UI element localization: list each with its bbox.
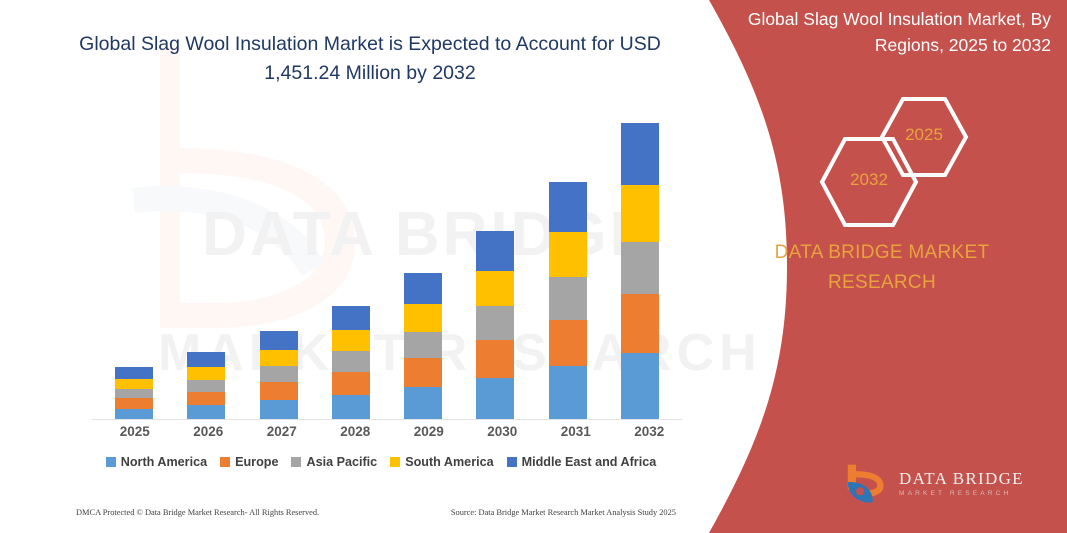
bar-segment bbox=[260, 350, 298, 367]
footer: DMCA Protected © Data Bridge Market Rese… bbox=[76, 508, 676, 517]
stacked-bar-chart bbox=[76, 110, 686, 420]
bar-segment bbox=[476, 231, 514, 270]
stacked-bar bbox=[404, 273, 442, 420]
stacked-bar bbox=[476, 231, 514, 420]
stacked-bar bbox=[187, 352, 225, 420]
legend-label: South America bbox=[405, 455, 493, 469]
stacked-bar bbox=[260, 331, 298, 420]
bar-segment bbox=[621, 294, 659, 353]
x-axis-tick-label: 2031 bbox=[545, 424, 607, 439]
x-axis-tick-label: 2030 bbox=[471, 424, 533, 439]
bar-segment bbox=[187, 352, 225, 366]
footer-copyright: DMCA Protected © Data Bridge Market Rese… bbox=[76, 508, 319, 517]
legend-label: Asia Pacific bbox=[306, 455, 377, 469]
bar-segment bbox=[549, 366, 587, 420]
bar-segment bbox=[115, 379, 153, 389]
brand-name: DATA BRIDGE MARKET RESEARCH bbox=[737, 238, 1027, 298]
legend-item[interactable]: South America bbox=[390, 455, 493, 469]
bar-column bbox=[392, 110, 454, 420]
bar-segment bbox=[549, 182, 587, 232]
legend-swatch bbox=[507, 457, 517, 467]
bar-column bbox=[464, 110, 526, 420]
bar-segment bbox=[549, 277, 587, 319]
legend-swatch bbox=[291, 457, 301, 467]
legend-item[interactable]: Middle East and Africa bbox=[507, 455, 657, 469]
chart-title: Global Slag Wool Insulation Market is Ex… bbox=[60, 30, 680, 88]
x-axis-tick-label: 2026 bbox=[177, 424, 239, 439]
bar-segment bbox=[332, 351, 370, 372]
bar-segment bbox=[476, 271, 514, 307]
bar-segment bbox=[332, 395, 370, 420]
bar-segment bbox=[404, 387, 442, 420]
data-bridge-b-logo-icon bbox=[845, 461, 891, 507]
bar-segment bbox=[476, 306, 514, 340]
bar-segment bbox=[260, 331, 298, 350]
infographic-root: DATA BRIDGE MARKET RESEARCH Global Slag … bbox=[0, 0, 1067, 533]
legend-swatch bbox=[106, 457, 116, 467]
chart-plot-area bbox=[98, 110, 676, 420]
logo-wordmark: DATA BRIDGE MARKET RESEARCH bbox=[899, 470, 1024, 499]
bar-segment bbox=[332, 330, 370, 352]
bar-segment bbox=[187, 392, 225, 405]
x-axis-tick-label: 2029 bbox=[398, 424, 460, 439]
bar-segment bbox=[621, 185, 659, 241]
bar-segment bbox=[621, 242, 659, 295]
hexagon-label-2025: 2025 bbox=[879, 125, 969, 145]
bar-segment bbox=[404, 332, 442, 358]
bar-segment bbox=[260, 366, 298, 382]
x-axis-tick-label: 2027 bbox=[251, 424, 313, 439]
bar-column bbox=[609, 110, 671, 420]
bar-segment bbox=[621, 353, 659, 420]
bar-segment bbox=[404, 304, 442, 332]
chart-baseline bbox=[92, 419, 682, 420]
x-axis-tick-label: 2025 bbox=[104, 424, 166, 439]
x-axis-tick-label: 2032 bbox=[618, 424, 680, 439]
legend-label: North America bbox=[121, 455, 207, 469]
bar-segment bbox=[549, 232, 587, 277]
legend-item[interactable]: Europe bbox=[220, 455, 278, 469]
bar-segment bbox=[187, 380, 225, 392]
bar-segment bbox=[476, 378, 514, 420]
bar-segment bbox=[332, 306, 370, 329]
brand-panel-content: Global Slag Wool Insulation Market, By R… bbox=[687, 0, 1067, 533]
bar-segment bbox=[115, 389, 153, 398]
legend-item[interactable]: North America bbox=[106, 455, 207, 469]
bar-segment bbox=[621, 123, 659, 185]
bar-segment bbox=[404, 358, 442, 387]
panel-title: Global Slag Wool Insulation Market, By R… bbox=[721, 6, 1059, 58]
x-axis-tick-label: 2028 bbox=[324, 424, 386, 439]
legend-swatch bbox=[390, 457, 400, 467]
bar-segment bbox=[332, 372, 370, 395]
chart-x-axis: 20252026202720282029203020312032 bbox=[98, 424, 686, 439]
footer-source: Source: Data Bridge Market Research Mark… bbox=[451, 508, 676, 517]
bar-segment bbox=[115, 398, 153, 408]
bar-segment bbox=[187, 367, 225, 380]
legend-item[interactable]: Asia Pacific bbox=[291, 455, 377, 469]
bar-segment bbox=[260, 400, 298, 420]
stacked-bar bbox=[549, 182, 587, 420]
bar-column bbox=[537, 110, 599, 420]
bar-column bbox=[103, 110, 165, 420]
bar-segment bbox=[260, 382, 298, 400]
year-hexagon-group: 2032 2025 bbox=[799, 95, 989, 207]
chart-legend: North AmericaEuropeAsia PacificSouth Ame… bbox=[76, 455, 686, 469]
logo-sub-text: MARKET RESEARCH bbox=[899, 488, 1024, 499]
stacked-bar bbox=[621, 123, 659, 420]
hexagon-badge-2025: 2025 bbox=[879, 95, 969, 179]
stacked-bar bbox=[115, 367, 153, 420]
brand-logo: DATA BRIDGE MARKET RESEARCH bbox=[845, 458, 1041, 510]
logo-main-text: DATA BRIDGE bbox=[899, 470, 1024, 488]
legend-label: Middle East and Africa bbox=[522, 455, 657, 469]
bar-column bbox=[175, 110, 237, 420]
stacked-bar bbox=[332, 306, 370, 420]
legend-swatch bbox=[220, 457, 230, 467]
bar-segment bbox=[115, 367, 153, 378]
bar-segment bbox=[404, 273, 442, 304]
bar-column bbox=[320, 110, 382, 420]
legend-label: Europe bbox=[235, 455, 278, 469]
bar-column bbox=[248, 110, 310, 420]
bar-segment bbox=[187, 405, 225, 420]
bar-segment bbox=[549, 320, 587, 367]
bar-segment bbox=[476, 340, 514, 378]
